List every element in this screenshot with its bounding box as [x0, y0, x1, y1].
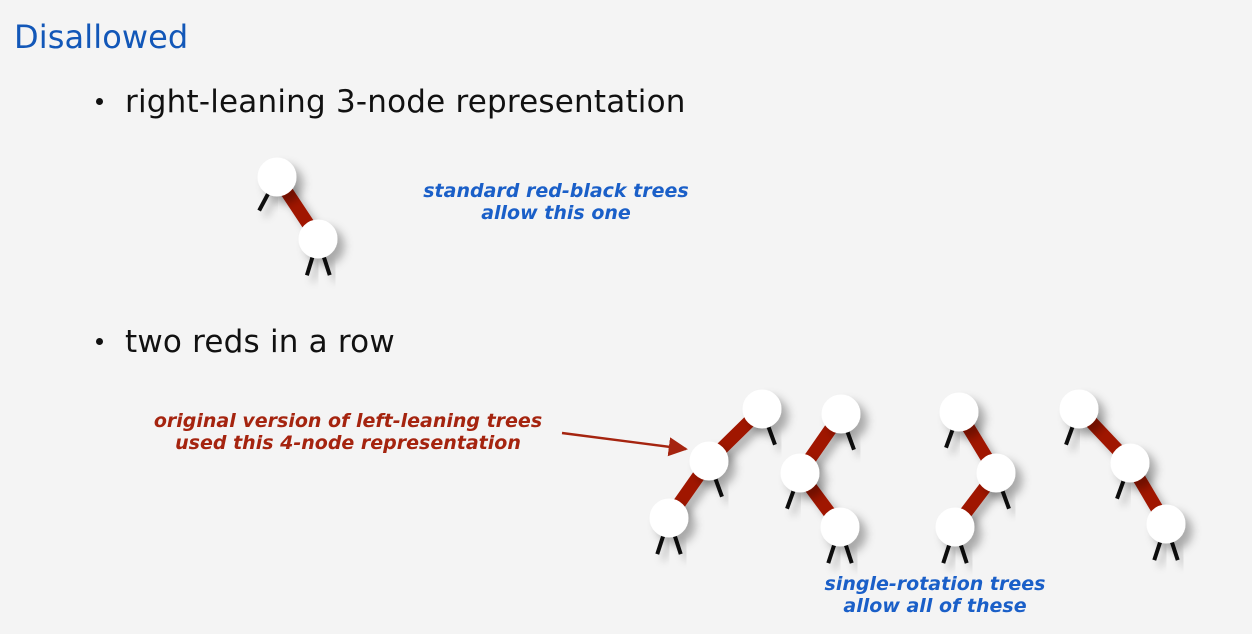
null-link-stub [846, 429, 854, 450]
tree-node [1147, 505, 1185, 543]
tree-node [690, 442, 728, 480]
tree-node [743, 390, 781, 428]
red-link [800, 473, 840, 527]
bullet-item-two-reds: two reds in a row [96, 324, 395, 360]
null-link-stub [323, 254, 330, 275]
page-title: Disallowed [14, 18, 188, 56]
tree-node [977, 454, 1015, 492]
null-link-stub [845, 542, 852, 563]
null-link-stub [674, 533, 681, 554]
bullet-dot-icon [96, 338, 103, 345]
null-link-stub [259, 191, 269, 210]
null-link-stub [714, 476, 722, 497]
annotation-standard-red-black: standard red-black trees allow this one [408, 180, 704, 225]
tree-node [822, 395, 860, 433]
null-link-stub [1001, 488, 1009, 509]
tree-node [258, 158, 296, 196]
tree-four-node-right-chain [1060, 390, 1185, 560]
red-link [709, 409, 762, 461]
tree-node [650, 499, 688, 537]
annotation-original-version: original version of left-leaning trees u… [138, 410, 558, 455]
tree-node [1060, 390, 1098, 428]
null-link-stub [946, 427, 954, 448]
bullet-label: right-leaning 3-node representation [125, 84, 686, 120]
bullet-label: two reds in a row [125, 324, 395, 360]
null-link-stub [828, 542, 835, 563]
tree-node [940, 393, 978, 431]
null-link-stub [307, 254, 313, 275]
null-link-stub [657, 533, 664, 554]
red-link [1079, 409, 1130, 463]
tree-right-leaning-3-node [258, 158, 337, 275]
tree-four-node-left-chain [650, 390, 781, 554]
tree-node [781, 454, 819, 492]
null-link-stub [1066, 424, 1074, 445]
null-link-stub [943, 542, 950, 563]
bullet-item-right-leaning: right-leaning 3-node representation [96, 84, 686, 120]
tree-node [821, 508, 859, 546]
null-link-stub [1171, 539, 1178, 560]
slide-canvas: Disallowed right-leaning 3-node represen… [0, 0, 1252, 634]
red-link [1130, 463, 1166, 524]
tree-node [299, 220, 337, 258]
trees-group [258, 158, 1185, 563]
red-link [669, 461, 709, 518]
bullet-dot-icon [96, 98, 103, 105]
null-link-stub [787, 488, 795, 509]
null-link-stub [767, 424, 775, 445]
red-link [959, 412, 996, 473]
red-link [955, 473, 996, 527]
annotation-single-rotation: single-rotation trees allow all of these [806, 573, 1064, 618]
arrow-line [562, 433, 686, 449]
tree-node [936, 508, 974, 546]
tree-four-node-zigzag-right [936, 393, 1015, 563]
red-link [800, 414, 841, 473]
null-link-stub [1154, 539, 1161, 560]
tree-four-node-zigzag-left [781, 395, 860, 563]
null-link-stub [1117, 478, 1125, 499]
null-link-stub [960, 542, 967, 563]
pointer-arrow [562, 433, 686, 449]
tree-node [1111, 444, 1149, 482]
red-link [277, 177, 318, 239]
